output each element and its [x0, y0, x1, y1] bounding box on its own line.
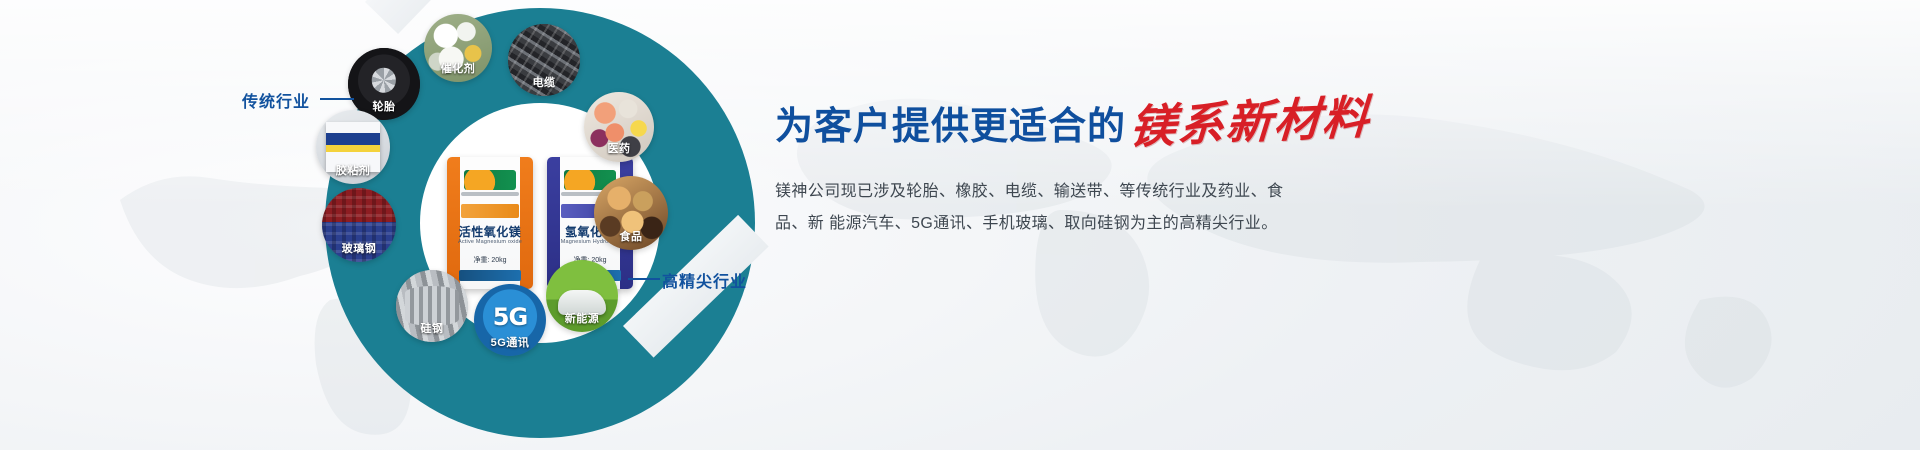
banner-copy: 为客户提供更适合的 镁系新材料 镁神公司现已涉及轮胎、橡胶、电缆、输送带、等传统…: [775, 100, 1515, 240]
headline-red-text: 镁系新材料: [1128, 95, 1372, 151]
tile-caption: 医药: [584, 140, 654, 156]
tile-frp[interactable]: 玻璃钢: [322, 188, 396, 262]
label-high-precision-industry: 高精尖行业: [662, 268, 747, 292]
tile-catalyst[interactable]: 催化剂: [424, 14, 492, 82]
leader-line-left: [320, 98, 354, 100]
bag-footer-bar: [459, 270, 521, 281]
body-line-2: 能源汽车、5G通讯、手机玻璃、取向硅钢为主的高精尖行业。: [829, 215, 1278, 232]
leader-line-right: [628, 278, 660, 280]
banner-body: 镁神公司现已涉及轮胎、橡胶、电缆、输送带、等传统行业及药业、食品、新 能源汽车、…: [775, 176, 1305, 240]
product-name: 活性氧化镁: [447, 223, 533, 240]
banner-stage: 活性氧化镁 Active Magnesium oxide 净重: 20kg 氢氧…: [0, 0, 1920, 450]
tile-caption: 硅钢: [396, 320, 468, 336]
tile-caption: 催化剂: [424, 60, 492, 76]
tile-silicon-steel[interactable]: 硅钢: [396, 270, 468, 342]
headline-blue-text: 为客户提供更适合的: [775, 108, 1126, 146]
tile-caption: 食品: [594, 228, 668, 244]
tile-cable[interactable]: 电缆: [508, 24, 580, 96]
tile-caption: 5G通讯: [474, 334, 546, 350]
industry-circle-diagram: 活性氧化镁 Active Magnesium oxide 净重: 20kg 氢氧…: [300, 0, 780, 450]
tile-caption: 电缆: [508, 74, 580, 90]
headline: 为客户提供更适合的 镁系新材料: [775, 100, 1515, 146]
product-net-weight: 净重: 20kg: [447, 255, 533, 265]
brand-logo-icon: [464, 170, 516, 190]
tile-medicine[interactable]: 医药: [584, 92, 654, 162]
tile-caption: 玻璃钢: [322, 240, 396, 256]
bag-band: [461, 204, 519, 218]
tile-5g[interactable]: 5G通讯: [474, 284, 546, 356]
tile-food[interactable]: 食品: [594, 176, 668, 250]
product-name-en: Active Magnesium oxide: [447, 239, 533, 245]
brand-wordmark: [461, 192, 519, 196]
tile-caption: 胶粘剂: [316, 162, 390, 178]
tile-caption: 新能源: [546, 310, 618, 326]
tile-adhesive[interactable]: 胶粘剂: [316, 110, 390, 184]
label-traditional-industry: 传统行业: [242, 88, 310, 112]
tile-new-energy[interactable]: 新能源: [546, 260, 618, 332]
